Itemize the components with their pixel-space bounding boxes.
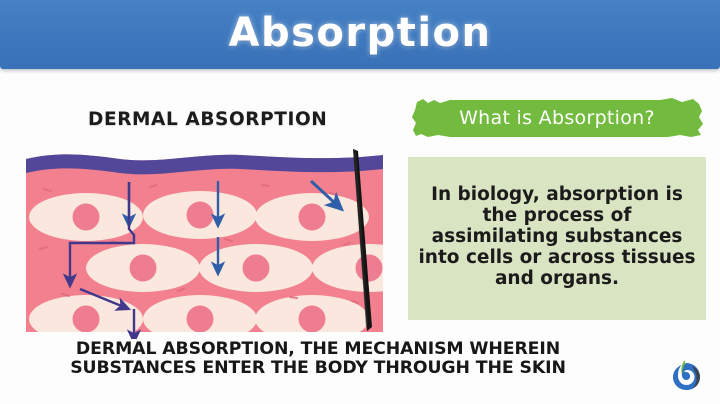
- question-banner: What is Absorption?: [410, 97, 710, 139]
- skin-cell: [29, 193, 143, 241]
- definition-box: In biology, absorption is the process of…: [408, 157, 706, 320]
- skin-cell: [255, 193, 369, 241]
- skin-cell: [199, 244, 313, 292]
- skin-cell: [143, 191, 257, 239]
- biology-online-logo: [668, 357, 704, 393]
- caption-line-2: SUBSTANCES ENTER THE BODY THROUGH THE SK…: [0, 359, 636, 378]
- skin-absorption-diagram: DERMAL ABSORPTION: [0, 69, 400, 339]
- page-title: Absorption: [228, 13, 491, 56]
- question-banner-text: What is Absorption?: [410, 97, 710, 139]
- caption: DERMAL ABSORPTION, THE MECHANISM WHEREIN…: [0, 340, 636, 379]
- skin-cross-section-illustration: [0, 69, 400, 339]
- definition-body-text: In biology, absorption is the process of…: [416, 185, 698, 289]
- header-banner: Absorption: [0, 0, 720, 69]
- caption-line-1: DERMAL ABSORPTION, THE MECHANISM WHEREIN: [0, 340, 636, 359]
- definition-panel: What is Absorption? In biology, absorpti…: [400, 69, 720, 339]
- skin-cell: [86, 244, 200, 292]
